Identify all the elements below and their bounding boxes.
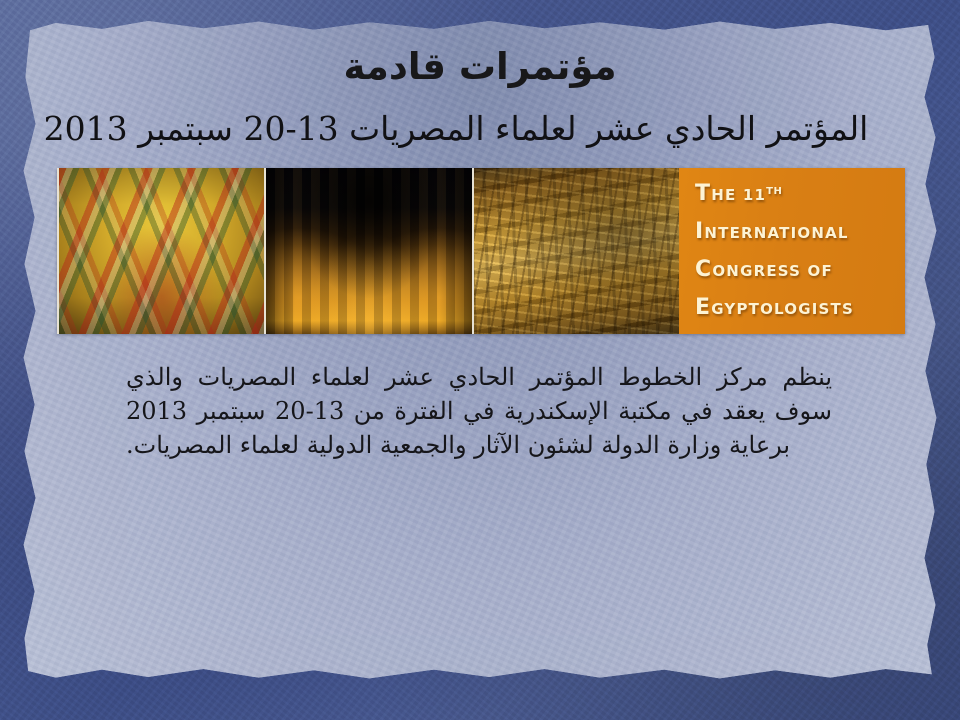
slide-subtitle: المؤتمر الحادي عشر لعلماء المصريات 13-20…	[30, 110, 882, 149]
slide: مؤتمرات قادمة المؤتمر الحادي عشر لعلماء …	[0, 0, 960, 720]
photo-painted-tomb-vault	[57, 168, 264, 334]
congress-title-lines: THE 11TH INTERNATIONAL CONGRESS OF EGYPT…	[695, 183, 897, 334]
conference-banner: THE 11TH INTERNATIONAL CONGRESS OF EGYPT…	[57, 168, 905, 334]
congress-line-2: INTERNATIONAL	[695, 221, 897, 243]
congress-line-1: THE 11TH	[695, 183, 897, 205]
photo-karnak-avenue-night	[264, 168, 471, 334]
congress-line-2-cap: I	[695, 219, 704, 244]
congress-line-4-cap: E	[695, 295, 711, 320]
congress-line-4: EGYPTOLOGISTS	[695, 297, 897, 319]
congress-line-3-cap: C	[695, 257, 712, 282]
congress-line-3-rest: ONGRESS OF	[712, 262, 833, 280]
congress-line-1-cap: T	[695, 181, 711, 206]
congress-line-1-ordinal: TH	[766, 186, 782, 197]
page-title: مؤتمرات قادمة	[0, 46, 960, 87]
congress-line-3: CONGRESS OF	[695, 259, 897, 281]
photo-temple-relief-hieroglyphs	[472, 168, 679, 334]
congress-line-2-rest: NTERNATIONAL	[704, 224, 848, 242]
congress-line-4-rest: GYPTOLOGISTS	[711, 300, 854, 318]
slide-body-text: ينظم مركز الخطوط المؤتمر الحادي عشر لعلم…	[126, 360, 832, 462]
congress-line-1-rest: HE 11	[711, 186, 766, 204]
congress-title-panel: THE 11TH INTERNATIONAL CONGRESS OF EGYPT…	[679, 168, 905, 334]
